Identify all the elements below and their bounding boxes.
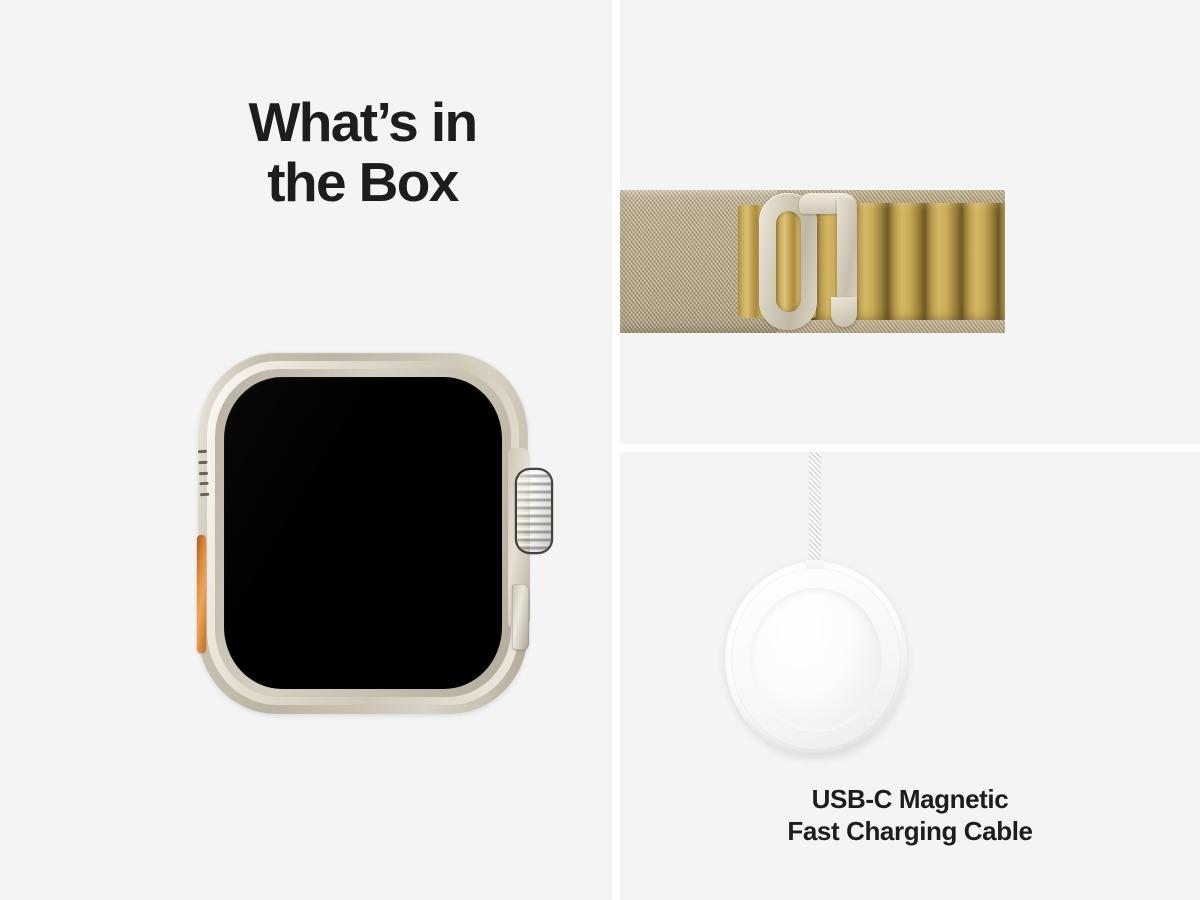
panel-charging-cable: USB-C Magnetic Fast Charging Cable	[620, 452, 1200, 900]
side-button	[512, 584, 529, 650]
buckle-hook-tip	[831, 297, 857, 327]
action-button	[197, 535, 206, 653]
apple-watch-ultra-image	[190, 352, 540, 714]
page-title-line-1: What’s in	[150, 92, 575, 152]
speaker-slot	[199, 471, 208, 474]
speaker-slot	[198, 450, 207, 453]
whats-in-the-box-layout: What’s in the Box	[0, 0, 1200, 900]
watch-display	[224, 377, 502, 689]
charger-label: USB-C Magnetic Fast Charging Cable	[620, 783, 1200, 847]
speaker-slot	[198, 461, 207, 464]
braided-cable	[809, 452, 821, 574]
digital-crown-highlight	[517, 470, 551, 552]
speaker-slot	[199, 482, 208, 485]
speaker-slot	[200, 493, 209, 496]
page-title: What’s in the Box	[150, 92, 575, 212]
page-title-line-2: the Box	[150, 152, 575, 212]
panel-alpine-loop: Alpine Loop	[620, 0, 1200, 444]
g-hook-buckle	[759, 193, 869, 330]
charger-label-line-1: USB-C Magnetic	[620, 783, 1200, 815]
charging-puck-face	[750, 588, 882, 732]
charger-label-line-2: Fast Charging Cable	[620, 815, 1200, 847]
buckle-loop-opening	[776, 211, 801, 312]
digital-crown	[517, 470, 551, 552]
panel-watch: What’s in the Box	[0, 0, 612, 900]
alpine-loop-band-image	[620, 190, 1005, 333]
